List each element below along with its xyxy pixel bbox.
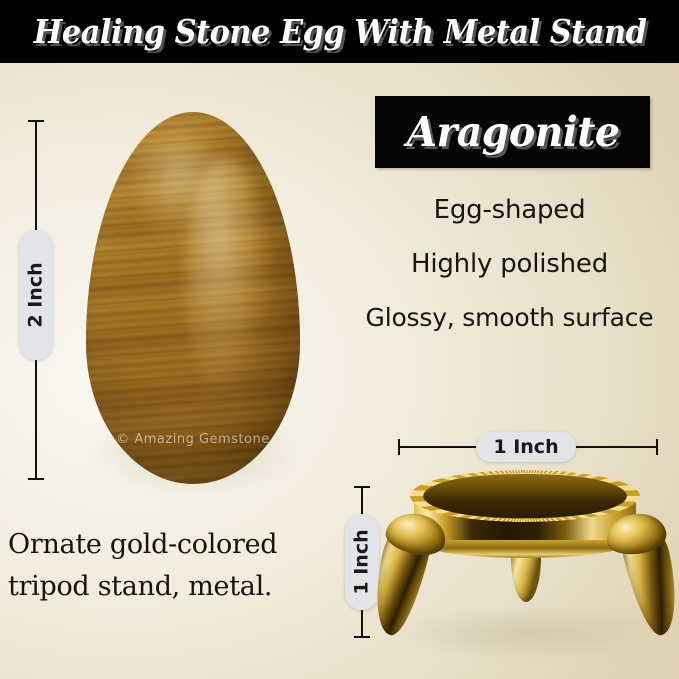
stand-caption-line-1: Ornate gold-colored (8, 524, 338, 566)
stand-beaded-edge (410, 470, 640, 522)
stone-name-block: Aragonite (375, 96, 650, 168)
banner-title: Healing Stone Egg With Metal Stand (33, 12, 646, 51)
egg-body: © Amazing Gemstone (86, 112, 300, 484)
egg-height-label: 2 Inch (19, 230, 53, 360)
feature-item: Egg-shaped (434, 195, 586, 225)
dimension-cap-left (398, 439, 400, 455)
stand-height-value: 1 Inch (351, 529, 373, 594)
dimension-cap-right (656, 439, 658, 455)
dimension-cap-bottom (354, 636, 370, 638)
feature-item: Highly polished (411, 249, 608, 279)
stand-lower-lip (414, 540, 636, 558)
stand-height-dimension: 1 Inch (352, 486, 372, 638)
stand-shadow (400, 610, 652, 656)
stone-name-text: Aragonite (406, 108, 619, 156)
product-infographic: Healing Stone Egg With Metal Stand 2 Inc… (0, 0, 679, 679)
dimension-cap-bottom (28, 478, 44, 480)
egg-height-dimension: 2 Inch (26, 120, 46, 480)
dimension-cap-top (28, 120, 44, 122)
header-banner: Healing Stone Egg With Metal Stand (0, 0, 679, 63)
stand-width-label: 1 Inch (476, 432, 576, 462)
stand-height-label: 1 Inch (345, 514, 379, 610)
feature-list: Egg-shaped Highly polished Glossy, smoot… (340, 195, 679, 356)
stand-width-dimension: 1 Inch (398, 437, 658, 457)
gold-tripod-stand (380, 470, 672, 650)
feature-item: Glossy, smooth surface (366, 303, 654, 332)
stand-caption-line-2: tripod stand, metal. (8, 566, 338, 608)
aragonite-egg: © Amazing Gemstone (86, 112, 300, 484)
egg-height-value: 2 Inch (25, 262, 47, 327)
stand-caption: Ornate gold-colored tripod stand, metal. (8, 524, 338, 608)
dimension-cap-top (354, 486, 370, 488)
